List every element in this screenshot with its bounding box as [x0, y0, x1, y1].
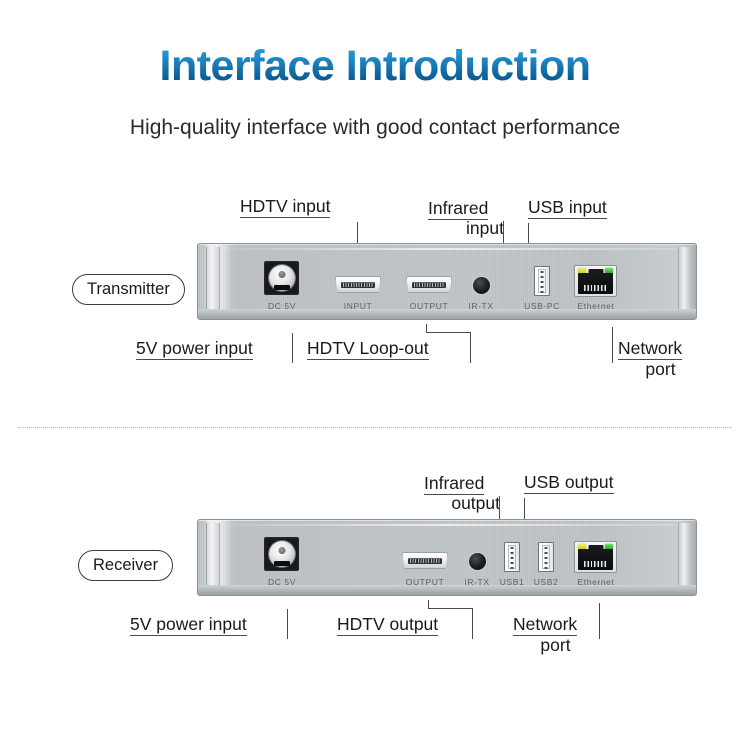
callout-network-port-transmitter-line2: port	[618, 360, 703, 380]
callout-usb-input: USB input	[528, 198, 607, 219]
leader-hdtv-output-right	[472, 609, 473, 639]
hdmi-slot	[412, 282, 446, 288]
port-label-ir-tx: IR-TX	[468, 301, 493, 311]
dc-jack-slot	[274, 561, 290, 566]
port-label-ethernet: Ethernet	[578, 577, 615, 587]
device-right-rail	[678, 523, 690, 585]
port-label-output: OUTPUT	[406, 577, 445, 587]
badge-transmitter: Transmitter	[72, 274, 185, 305]
callout-infrared-input-line2: input	[428, 219, 504, 239]
callout-infrared-output-line1: Infrared	[424, 474, 484, 495]
leader-power-input-transmitter	[292, 333, 293, 363]
port-label-ir-tx: IR-TX	[464, 577, 489, 587]
port-label-ethernet: Ethernet	[578, 301, 615, 311]
receiver-device: DC 5V OUTPUT IR-TX USB1 USB2 Ethernet	[197, 519, 697, 596]
device-right-rail	[678, 247, 690, 309]
device-left-rail	[206, 523, 220, 585]
ethernet-body	[578, 549, 613, 570]
callout-network-port-receiver-line2: port	[513, 636, 598, 656]
usb-inner	[542, 545, 550, 569]
leader-hdtv-loop-out-top	[426, 332, 471, 333]
dc-jack-slot	[274, 285, 290, 290]
hdmi-slot	[408, 558, 442, 564]
port-label-usb2: USB2	[534, 577, 559, 587]
port-label-dc-5v: DC 5V	[268, 577, 296, 587]
callout-infrared-output-line2: output	[424, 494, 500, 514]
port-label-output: OUTPUT	[410, 301, 449, 311]
hdmi-slot	[341, 282, 375, 288]
ethernet-pins	[584, 561, 607, 567]
dc-jack-pin	[278, 271, 285, 278]
page-subtitle: High-quality interface with good contact…	[0, 116, 750, 140]
port-usb2-receiver[interactable]	[538, 542, 554, 572]
callout-hdtv-input: HDTV input	[240, 197, 330, 218]
leader-hdtv-output-top	[428, 608, 473, 609]
leader-hdtv-loop-out-stub	[426, 324, 427, 333]
callout-network-port-transmitter-line1: Network	[618, 339, 682, 360]
leader-hdtv-output-stub	[428, 600, 429, 609]
section-divider	[18, 427, 732, 428]
port-usb-pc-transmitter[interactable]	[534, 266, 550, 296]
port-ethernet-transmitter[interactable]	[574, 265, 617, 297]
port-label-input: INPUT	[344, 301, 373, 311]
port-hdmi-output-transmitter[interactable]	[406, 276, 452, 293]
leader-network-port-transmitter	[612, 327, 613, 363]
port-label-usb1: USB1	[500, 577, 525, 587]
usb-inner	[538, 269, 546, 293]
callout-power-input-transmitter: 5V power input	[136, 339, 253, 360]
callout-hdtv-loop-out: HDTV Loop-out	[307, 339, 429, 360]
callout-infrared-input-line1: Infrared	[428, 199, 488, 220]
port-ir-tx-receiver[interactable]	[469, 553, 486, 570]
page-title: Interface Introduction	[0, 44, 750, 89]
callout-usb-output: USB output	[524, 473, 614, 494]
usb-inner	[508, 545, 516, 569]
ethernet-body	[578, 273, 613, 294]
leader-hdtv-loop-out-right	[470, 333, 471, 363]
port-hdmi-input-transmitter[interactable]	[335, 276, 381, 293]
dc-jack-pin	[278, 547, 285, 554]
badge-receiver: Receiver	[78, 550, 173, 581]
device-left-rail	[206, 247, 220, 309]
ethernet-pins	[584, 285, 607, 291]
port-dc-jack-receiver[interactable]	[264, 537, 299, 571]
port-dc-jack-transmitter[interactable]	[264, 261, 299, 295]
port-hdmi-output-receiver[interactable]	[402, 552, 448, 569]
port-ir-tx-transmitter[interactable]	[473, 277, 490, 294]
callout-network-port-receiver-line1: Network	[513, 615, 577, 636]
callout-hdtv-output: HDTV output	[337, 615, 438, 636]
leader-power-input-receiver	[287, 609, 288, 639]
port-usb1-receiver[interactable]	[504, 542, 520, 572]
port-ethernet-receiver[interactable]	[574, 541, 617, 573]
transmitter-device: DC 5V INPUT OUTPUT IR-TX USB-PC Ethernet	[197, 243, 697, 320]
callout-power-input-receiver: 5V power input	[130, 615, 247, 636]
port-label-dc-5v: DC 5V	[268, 301, 296, 311]
leader-network-port-receiver	[599, 603, 600, 639]
port-label-usb-pc: USB-PC	[524, 301, 560, 311]
